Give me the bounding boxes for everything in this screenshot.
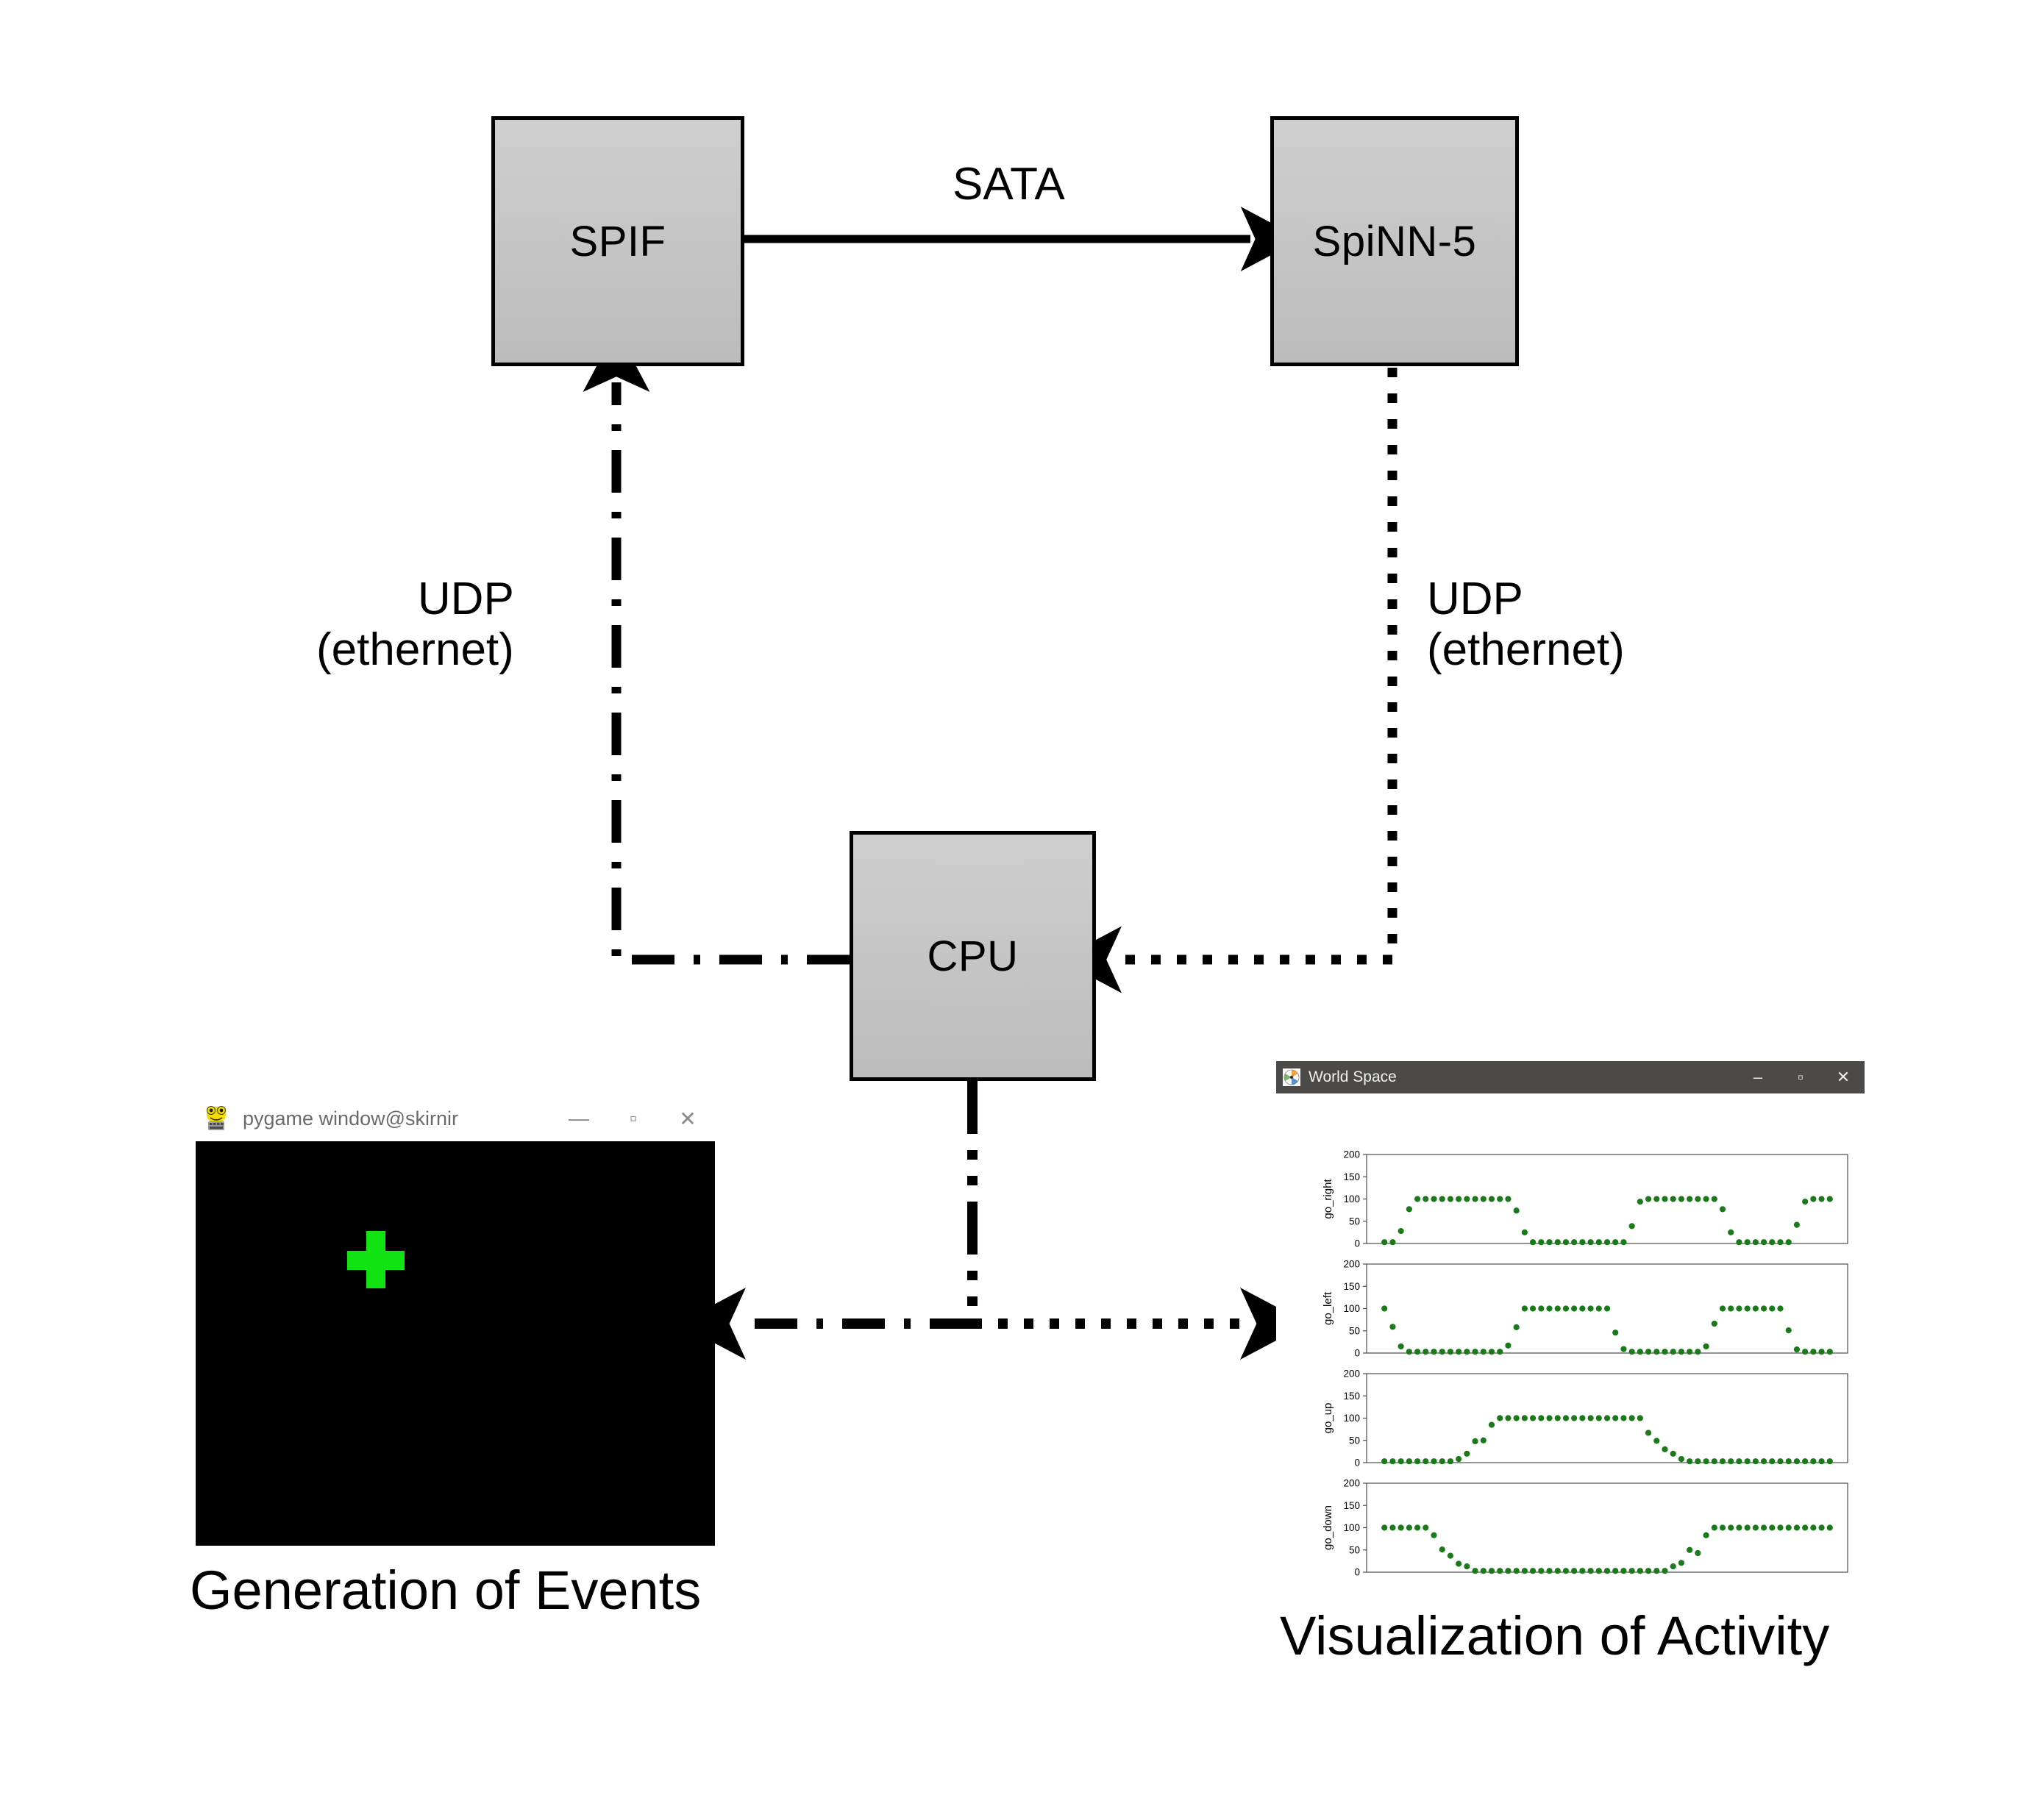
y-axis-label: go_up xyxy=(1322,1403,1334,1434)
y-tick-label: 50 xyxy=(1349,1325,1360,1336)
pygame-maximize-button[interactable]: ▫ xyxy=(606,1096,661,1141)
worldspace-plot-area: 050100150200go_right 050100150200go_left… xyxy=(1276,1093,1865,1598)
matplotlib-icon xyxy=(1283,1068,1300,1086)
worldspace-titlebar[interactable]: World Space – ▫ ✕ xyxy=(1276,1061,1865,1093)
worldspace-minimize-button[interactable]: – xyxy=(1737,1061,1779,1093)
y-tick-label: 150 xyxy=(1343,1391,1360,1402)
worldspace-window-controls: – ▫ ✕ xyxy=(1737,1061,1865,1093)
caption-generation-of-events: Generation of Events xyxy=(190,1559,701,1621)
y-tick-label: 50 xyxy=(1349,1216,1360,1227)
y-axis-label: go_left xyxy=(1322,1291,1334,1325)
y-tick-label: 0 xyxy=(1354,1457,1360,1469)
subplot-go-down: 050100150200go_down xyxy=(1276,1477,1865,1585)
y-tick-label: 100 xyxy=(1343,1193,1360,1205)
worldspace-close-button[interactable]: ✕ xyxy=(1822,1061,1865,1093)
pygame-window-title: pygame window@skirnir xyxy=(243,1107,458,1130)
y-axis-label: go_down xyxy=(1322,1505,1334,1550)
plot-go_left: 050100150200go_left xyxy=(1276,1258,1865,1366)
green-cross-sprite xyxy=(347,1231,405,1288)
y-tick-label: 200 xyxy=(1343,1478,1360,1489)
plot-frame xyxy=(1367,1155,1848,1243)
block-spif-label: SPIF xyxy=(570,217,666,266)
plot-go_up: 050100150200go_up xyxy=(1276,1368,1865,1475)
subplot-go-right: 050100150200go_right xyxy=(1276,1149,1865,1256)
pygame-titlebar[interactable]: pygame window@skirnir — ▫ ✕ xyxy=(196,1096,715,1141)
y-tick-label: 50 xyxy=(1349,1435,1360,1446)
block-cpu-label: CPU xyxy=(928,932,1019,981)
caption-visualization-of-activity: Visualization of Activity xyxy=(1280,1605,1829,1667)
y-tick-label: 50 xyxy=(1349,1544,1360,1555)
pygame-canvas[interactable] xyxy=(196,1141,715,1546)
y-tick-label: 150 xyxy=(1343,1171,1360,1182)
y-tick-label: 150 xyxy=(1343,1281,1360,1292)
pygame-minimize-button[interactable]: — xyxy=(552,1096,606,1141)
block-cpu: CPU xyxy=(850,831,1096,1081)
y-tick-label: 100 xyxy=(1343,1522,1360,1533)
y-tick-label: 150 xyxy=(1343,1500,1360,1511)
y-tick-label: 0 xyxy=(1354,1238,1360,1249)
pygame-frog-icon xyxy=(202,1104,231,1133)
plot-go_down: 050100150200go_down xyxy=(1276,1477,1865,1585)
pygame-window-controls: — ▫ ✕ xyxy=(552,1096,715,1141)
edge-label-udp-right: UDP (ethernet) xyxy=(1427,574,1625,676)
subplot-go-left: 050100150200go_left xyxy=(1276,1258,1865,1366)
plot-frame xyxy=(1367,1483,1848,1572)
block-spif: SPIF xyxy=(491,116,744,366)
y-tick-label: 100 xyxy=(1343,1303,1360,1314)
pygame-close-button[interactable]: ✕ xyxy=(661,1096,715,1141)
y-axis-label: go_right xyxy=(1322,1179,1334,1219)
edge-udp-right xyxy=(1112,368,1392,960)
pygame-window[interactable]: pygame window@skirnir — ▫ ✕ xyxy=(196,1096,715,1546)
y-tick-label: 0 xyxy=(1354,1567,1360,1578)
y-tick-label: 0 xyxy=(1354,1348,1360,1359)
edge-udp-left xyxy=(616,382,850,960)
y-tick-label: 200 xyxy=(1343,1368,1360,1380)
edge-label-sata: SATA xyxy=(953,159,1065,210)
y-tick-label: 200 xyxy=(1343,1149,1360,1160)
plot-go_right: 050100150200go_right xyxy=(1276,1149,1865,1256)
y-tick-label: 100 xyxy=(1343,1413,1360,1424)
worldspace-window[interactable]: World Space – ▫ ✕ 050100150200go_right 0… xyxy=(1276,1061,1865,1598)
subplot-go-up: 050100150200go_up xyxy=(1276,1368,1865,1475)
block-spinn5: SpiNN-5 xyxy=(1270,116,1519,366)
worldspace-maximize-button[interactable]: ▫ xyxy=(1779,1061,1822,1093)
edge-label-udp-left: UDP (ethernet) xyxy=(316,574,514,676)
cross-vertical-bar xyxy=(366,1231,385,1288)
worldspace-window-title: World Space xyxy=(1309,1068,1397,1086)
y-tick-label: 200 xyxy=(1343,1259,1360,1270)
block-spinn5-label: SpiNN-5 xyxy=(1313,217,1477,266)
